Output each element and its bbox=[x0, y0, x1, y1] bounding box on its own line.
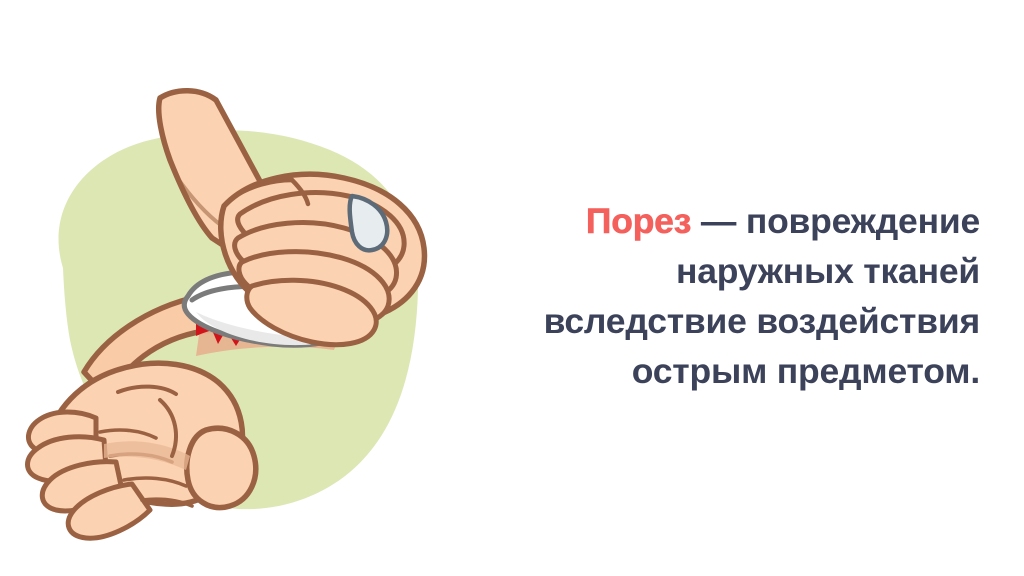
caption-line-1: Порез — повреждение bbox=[452, 196, 980, 246]
injured-hand-palm bbox=[28, 363, 256, 538]
slide-root: Порез — повреждение наружных тканей всле… bbox=[0, 0, 1024, 576]
illustration-panel bbox=[0, 0, 470, 576]
caption-line-3: вследствие воздействия bbox=[452, 296, 980, 346]
caption-line-4: острым предметом. bbox=[452, 346, 980, 396]
em-dash: — bbox=[701, 201, 736, 241]
keyword-porez: Порез bbox=[586, 201, 691, 241]
caption-line-2: наружных тканей bbox=[452, 246, 980, 296]
caption-space bbox=[691, 201, 701, 241]
caption-space-2 bbox=[736, 201, 746, 241]
caption-line-1-rest: повреждение bbox=[746, 201, 980, 241]
caption-block: Порез — повреждение наружных тканей всле… bbox=[452, 196, 980, 396]
first-aid-illustration bbox=[0, 0, 470, 576]
